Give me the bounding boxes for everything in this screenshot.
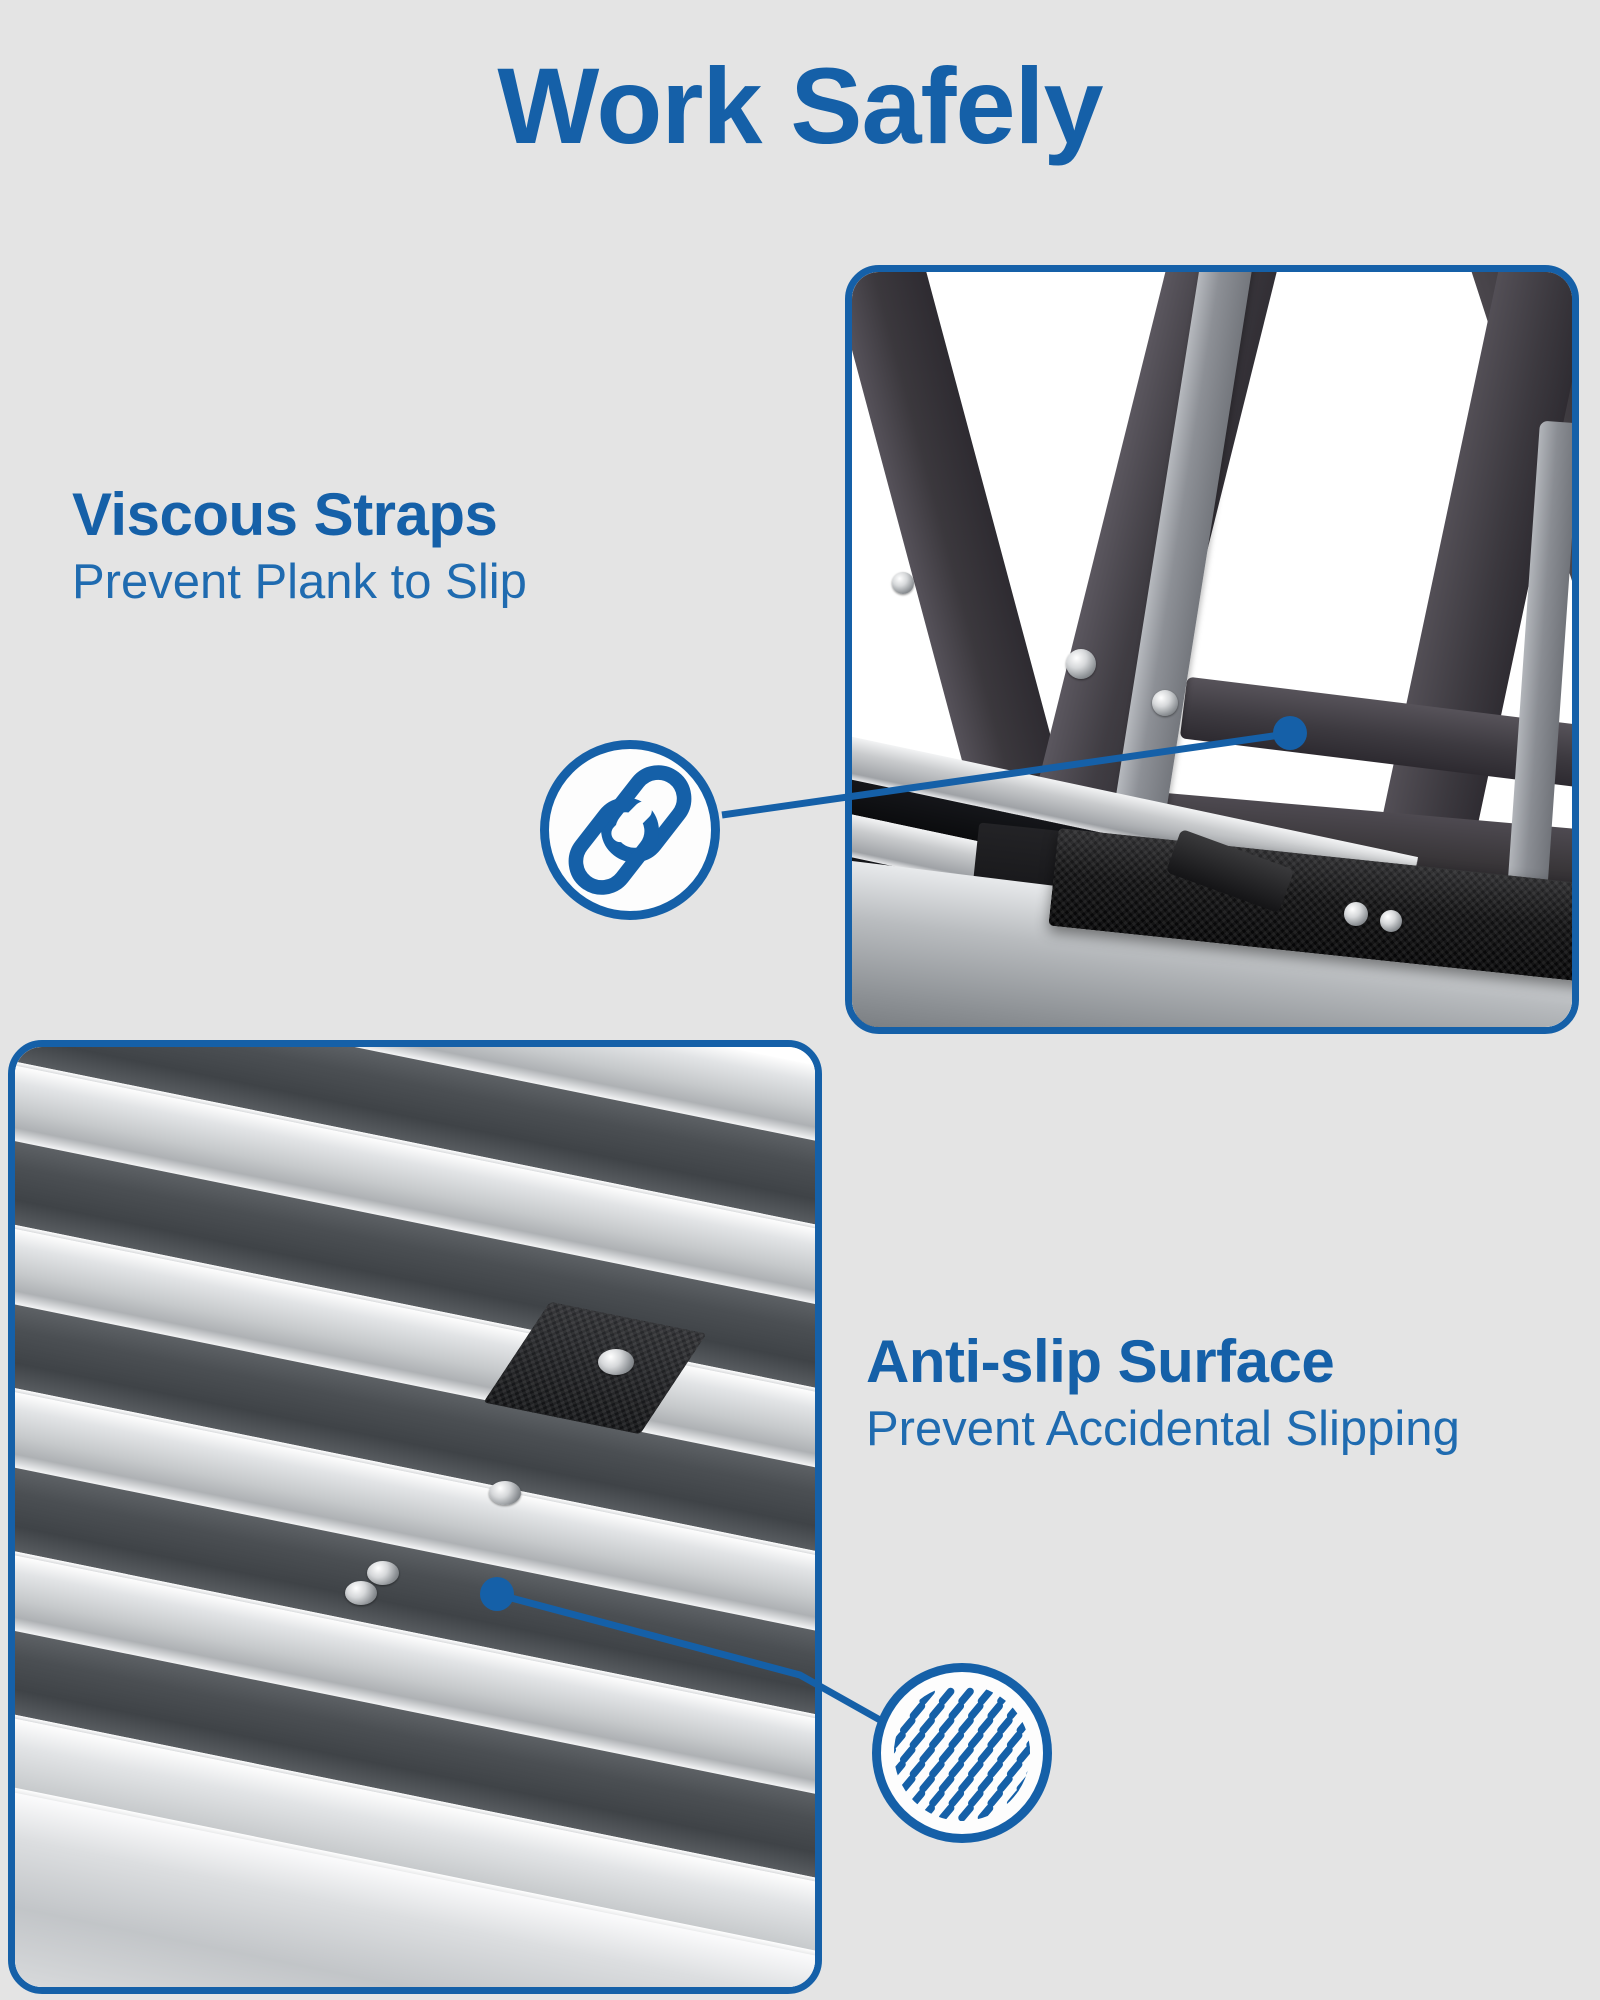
- feature-subtext: Prevent Plank to Slip: [72, 554, 527, 612]
- texture-dots-icon-badge: [872, 1663, 1052, 1843]
- feature-heading: Anti-slip Surface: [866, 1330, 1506, 1393]
- photo-strap-closeup: [845, 265, 1579, 1034]
- rivet: [1344, 902, 1368, 926]
- feature-subtext: Prevent Accidental Slipping: [866, 1401, 1506, 1459]
- page-title: Work Safely: [0, 52, 1600, 160]
- rivet: [1380, 910, 1402, 932]
- texture-dots-icon: [881, 1672, 1043, 1834]
- feature-block-anti-slip: Anti-slip Surface Prevent Accidental Sli…: [866, 1330, 1506, 1459]
- photo-plank-closeup: [8, 1040, 822, 1994]
- feature-block-viscous-straps: Viscous Straps Prevent Plank to Slip: [72, 483, 527, 612]
- rivet: [1152, 690, 1178, 716]
- rivet: [1066, 649, 1096, 679]
- rivet: [367, 1561, 399, 1585]
- chain-link-icon: [549, 749, 711, 911]
- rivet: [345, 1581, 377, 1605]
- chain-link-icon-badge: [540, 740, 720, 920]
- infographic-canvas: Work Safely: [0, 0, 1600, 2000]
- rivet: [489, 1481, 521, 1505]
- feature-heading: Viscous Straps: [72, 483, 527, 546]
- rivet: [598, 1349, 634, 1375]
- rivet: [892, 572, 914, 594]
